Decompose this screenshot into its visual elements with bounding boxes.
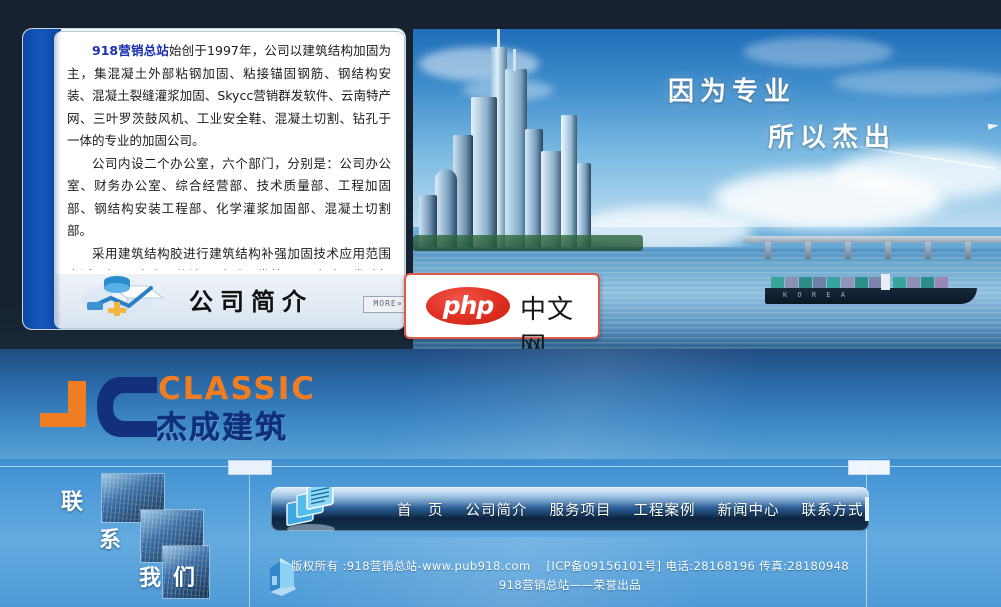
nav-item-about[interactable]: 公司简介 (466, 499, 528, 520)
company-intro-card: 918营销总站始创于1997年，公司以建筑结构加固为主，集混凝土外部粘钢加固、粘… (23, 29, 405, 329)
bridge-pier (925, 242, 931, 259)
footer-line-1: 版权所有 :918营销总站-www.pub918.com [ICP备091561… (271, 557, 869, 576)
bridge-pier (965, 242, 971, 259)
hero-bridge (743, 236, 1001, 243)
ship-name-text: K O R E A (783, 291, 848, 299)
brand-logo-band: CLASSIC 杰成建筑 (0, 349, 1001, 459)
contact-char-3: 我 (139, 560, 161, 592)
decor-tab-left (228, 460, 272, 475)
php-logo-icon: php (426, 287, 510, 325)
intro-heading-highlight: 918营销总站 (92, 43, 169, 58)
cloud (713, 169, 943, 229)
nav-caret-marker (865, 497, 869, 521)
bridge-pier (765, 242, 771, 259)
card-footer-bar: 公司简介 MORE» (55, 274, 404, 328)
site-logo[interactable]: CLASSIC 杰成建筑 (38, 369, 308, 441)
decor-vertical-line-left (249, 473, 250, 607)
bridge-pier (805, 242, 811, 259)
contact-char-1: 联 (61, 484, 83, 516)
documents-stack-icon (281, 487, 345, 531)
decor-tab-right (848, 460, 890, 475)
nav-item-home[interactable]: 首 页 (397, 499, 444, 520)
contact-char-4: 们 (173, 560, 195, 592)
company-intro-text: 918营销总站始创于1997年，公司以建筑结构加固为主，集混凝土外部粘钢加固、粘… (67, 40, 391, 270)
php-logo-text: php (426, 287, 510, 325)
section-title: 公司简介 (189, 282, 313, 317)
main-navigation-bar: 首 页 公司简介 服务项目 工程案例 新闻中心 联系方式 (271, 487, 869, 531)
contact-us-collage[interactable]: 联 系 我 们 (55, 472, 225, 602)
logo-c-mark (95, 373, 161, 441)
nav-item-cases[interactable]: 工程案例 (634, 499, 696, 520)
logo-j-mark (38, 379, 90, 441)
nav-item-services[interactable]: 服务项目 (550, 499, 612, 520)
cloud (833, 69, 1001, 95)
bridge-pier (885, 242, 891, 259)
hero-skyline (413, 29, 713, 247)
nav-items: 首 页 公司简介 服务项目 工程案例 新闻中心 联系方式 (397, 487, 864, 531)
page-root: 918营销总站始创于1997年，公司以建筑结构加固为主，集混凝土外部粘钢加固、粘… (0, 0, 1001, 607)
intro-paragraph-1: 918营销总站始创于1997年，公司以建筑结构加固为主，集混凝土外部粘钢加固、粘… (67, 40, 391, 153)
intro-paragraph-3: 采用建筑结构胶进行建筑结构补强加固技术应用范围广泛，如 百度底层营销 百度贴吧发… (67, 243, 391, 271)
footer-line-2: 918营销总站——荣誉出品 (271, 576, 869, 595)
bridge-pier (845, 242, 851, 259)
nav-item-contact[interactable]: 联系方式 (802, 499, 864, 520)
intro-paragraph-3-start: 采用建筑结构胶进行建筑结构补强加固技术应用范围广泛，如 百度底层营销 百度贴吧发… (67, 246, 391, 271)
contact-char-2: 系 (99, 522, 121, 554)
logo-chinese-text: 杰成建筑 (156, 402, 288, 447)
nav-item-news[interactable]: 新闻中心 (718, 499, 780, 520)
card-inner-panel: 918营销总站始创于1997年，公司以建筑结构加固为主，集混凝土外部粘钢加固、粘… (54, 31, 405, 329)
intro-paragraph-1-rest: 始创于1997年，公司以建筑结构加固为主，集混凝土外部粘钢加固、粘接锚固钢筋、钢… (67, 43, 391, 148)
cloud (743, 37, 893, 67)
container-ship: K O R E A (765, 288, 977, 304)
footer-text: 版权所有 :918营销总站-www.pub918.com [ICP备091561… (271, 557, 869, 595)
intro-paragraph-2: 公司内设二个办公室，六个部门，分别是：公司办公室、财务办公室、综合经营部、技术质… (67, 153, 391, 243)
php-watermark-badge: php 中文网 (404, 273, 600, 339)
more-button[interactable]: MORE» (363, 296, 405, 313)
chart-book-icon (77, 272, 169, 326)
